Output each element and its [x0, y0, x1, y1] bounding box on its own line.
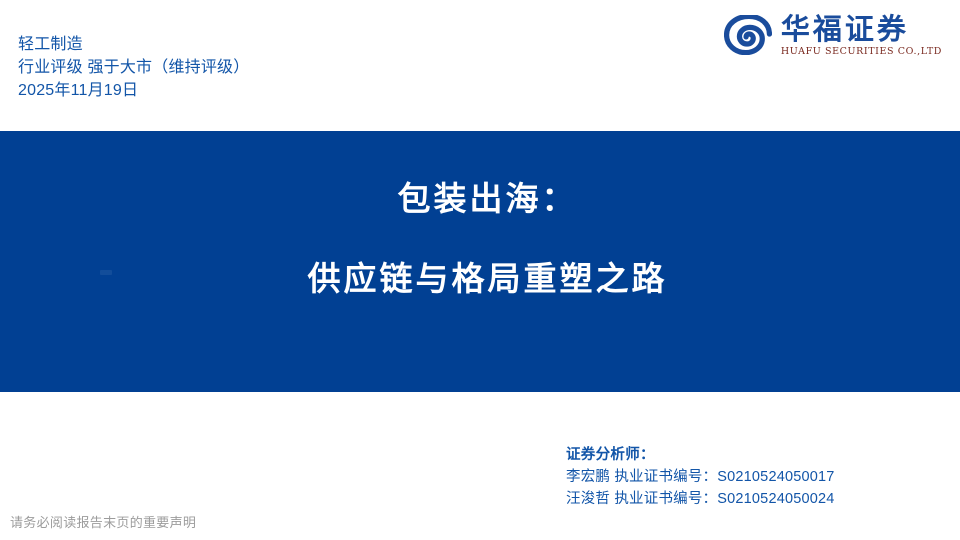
report-meta-block: 轻工制造 行业评级 强于大市（维持评级） 2025年11月19日: [18, 33, 249, 102]
analyst-license-code: S0210524050024: [717, 491, 834, 507]
report-title-line-1: 包装出海：: [0, 177, 960, 221]
industry-rating-label: 行业评级 强于大市（维持评级）: [18, 56, 249, 79]
analyst-block: 证券分析师： 李宏鹏 执业证书编号：S0210524050017 汪浚哲 执业证…: [566, 445, 835, 510]
analyst-license-label: 执业证书编号：: [614, 469, 717, 485]
analyst-name: 汪浚哲: [566, 491, 610, 507]
analyst-row: 李宏鹏 执业证书编号：S0210524050017: [566, 466, 835, 488]
logo-name-en: HUAFU SECURITIES CO.,LTD: [781, 46, 942, 58]
footer-disclaimer: 请务必阅读报告末页的重要声明: [10, 512, 196, 531]
huafu-spiral-mark-icon: [724, 15, 772, 55]
title-banner: 包装出海： 供应链与格局重塑之路: [0, 131, 960, 392]
logo-name-cn: 华福证券: [781, 13, 942, 45]
analyst-license-code: S0210524050017: [717, 469, 834, 485]
logo-text-block: 华福证券 HUAFU SECURITIES CO.,LTD: [781, 13, 942, 58]
report-title-line-2: 供应链与格局重塑之路: [0, 257, 960, 301]
company-logo: 华福证券 HUAFU SECURITIES CO.,LTD: [724, 13, 942, 58]
analyst-license-label: 执业证书编号：: [614, 491, 717, 507]
page-header: 轻工制造 行业评级 强于大市（维持评级） 2025年11月19日 华福证券 HU…: [0, 0, 960, 131]
report-title: 包装出海： 供应链与格局重塑之路: [0, 177, 960, 301]
report-date-label: 2025年11月19日: [18, 79, 249, 102]
analyst-heading: 证券分析师：: [566, 445, 835, 466]
industry-label: 轻工制造: [18, 33, 249, 56]
analyst-name: 李宏鹏: [566, 469, 610, 485]
analyst-row: 汪浚哲 执业证书编号：S0210524050024: [566, 488, 835, 510]
